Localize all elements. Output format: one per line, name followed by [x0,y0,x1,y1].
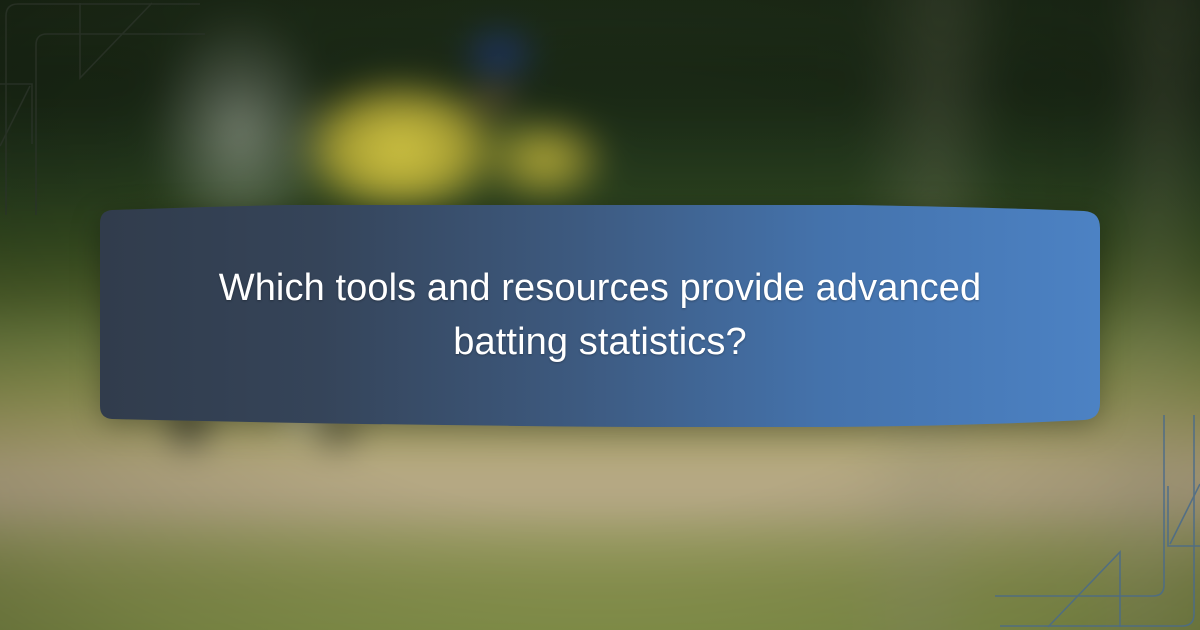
question-card: Which tools and resources provide advanc… [100,205,1100,427]
question-line-2: batting statistics? [453,315,746,369]
question-text: Which tools and resources provide advanc… [160,205,1040,427]
question-line-1: Which tools and resources provide advanc… [219,261,982,315]
screenshot-canvas: Which tools and resources provide advanc… [0,0,1200,630]
